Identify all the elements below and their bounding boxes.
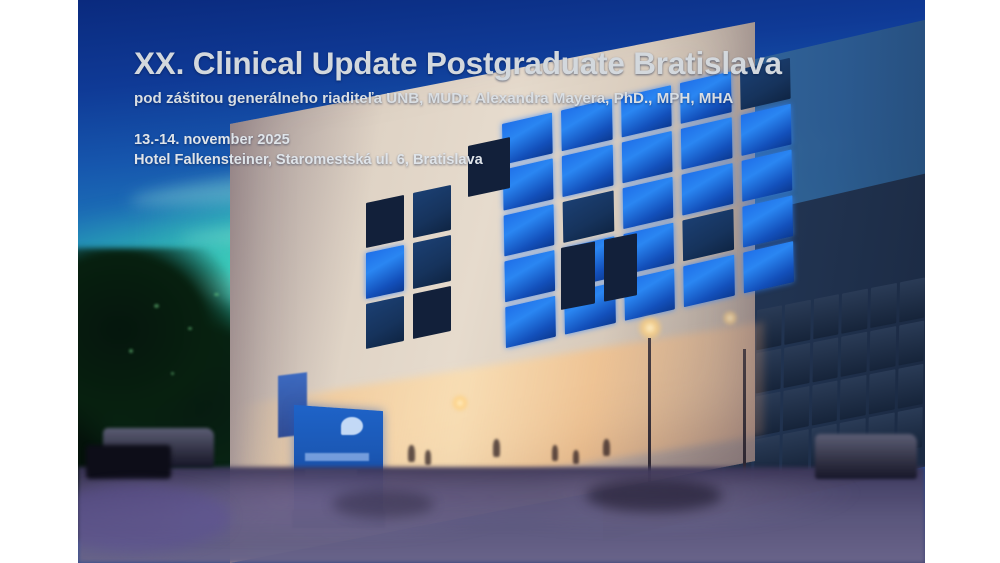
louver-slat — [897, 363, 923, 408]
louver-slat — [784, 342, 810, 387]
banner-text-line — [305, 453, 369, 460]
person-silhouette — [573, 450, 579, 464]
street-lamp-post — [648, 338, 651, 484]
lit-window — [741, 195, 792, 247]
dim-window — [413, 185, 451, 238]
louver-slat — [841, 331, 867, 376]
street-lamp-glow — [451, 394, 469, 412]
dark-window — [413, 286, 451, 339]
dark-window — [603, 233, 637, 301]
event-date: 13.-14. november 2025 — [134, 130, 834, 150]
louver-slat — [813, 294, 839, 339]
window-grid-left — [366, 185, 451, 349]
street-shadow — [586, 479, 722, 513]
louver-slat — [812, 337, 838, 382]
tree-light-speck — [129, 349, 133, 353]
louver-slat — [869, 326, 895, 371]
street-lamp-glow — [722, 310, 738, 326]
louver-slat — [869, 369, 895, 414]
parked-car — [815, 434, 917, 479]
lit-window — [504, 250, 555, 302]
louver-slat — [840, 374, 866, 419]
person-silhouette — [493, 439, 500, 457]
dim-window — [366, 296, 404, 349]
tree-light-speck — [188, 327, 192, 330]
lit-window — [366, 245, 404, 298]
dim-window — [562, 190, 613, 242]
presentation-slide: XX. Clinical Update Postgraduate Bratisl… — [0, 0, 1000, 563]
dim-window — [413, 235, 451, 288]
louver-slat — [842, 288, 868, 333]
tree-light-speck — [171, 372, 174, 375]
street-lamp-post — [743, 349, 746, 473]
dark-window — [561, 241, 595, 309]
lit-window — [681, 163, 732, 215]
person-silhouette — [408, 445, 415, 462]
street-shadow — [332, 490, 434, 518]
slide-subtitle: pod záštitou generálneho riaditeľa UNB, … — [134, 90, 834, 108]
person-silhouette — [425, 450, 431, 465]
dark-window — [366, 195, 404, 248]
event-venue: Hotel Falkensteiner, Staromestská ul. 6,… — [134, 150, 834, 170]
lit-window — [503, 204, 554, 256]
person-silhouette — [552, 445, 558, 461]
banner-logo-icon — [341, 417, 363, 435]
slide-text-block: XX. Clinical Update Postgraduate Bratisl… — [134, 46, 834, 170]
louver-slat — [898, 320, 924, 365]
louver-slat — [870, 283, 896, 328]
person-silhouette — [603, 439, 610, 456]
slide-title: XX. Clinical Update Postgraduate Bratisl… — [134, 46, 834, 81]
parked-car — [86, 445, 171, 479]
louver-slat — [899, 277, 925, 322]
louver-slat — [784, 299, 810, 344]
louver-slat — [811, 380, 837, 425]
louver-slat — [783, 385, 809, 430]
dim-window — [682, 209, 733, 261]
tree-light-speck — [214, 293, 219, 296]
lit-window — [622, 177, 673, 229]
slide-date-venue: 13.-14. november 2025 Hotel Falkensteine… — [134, 130, 834, 170]
